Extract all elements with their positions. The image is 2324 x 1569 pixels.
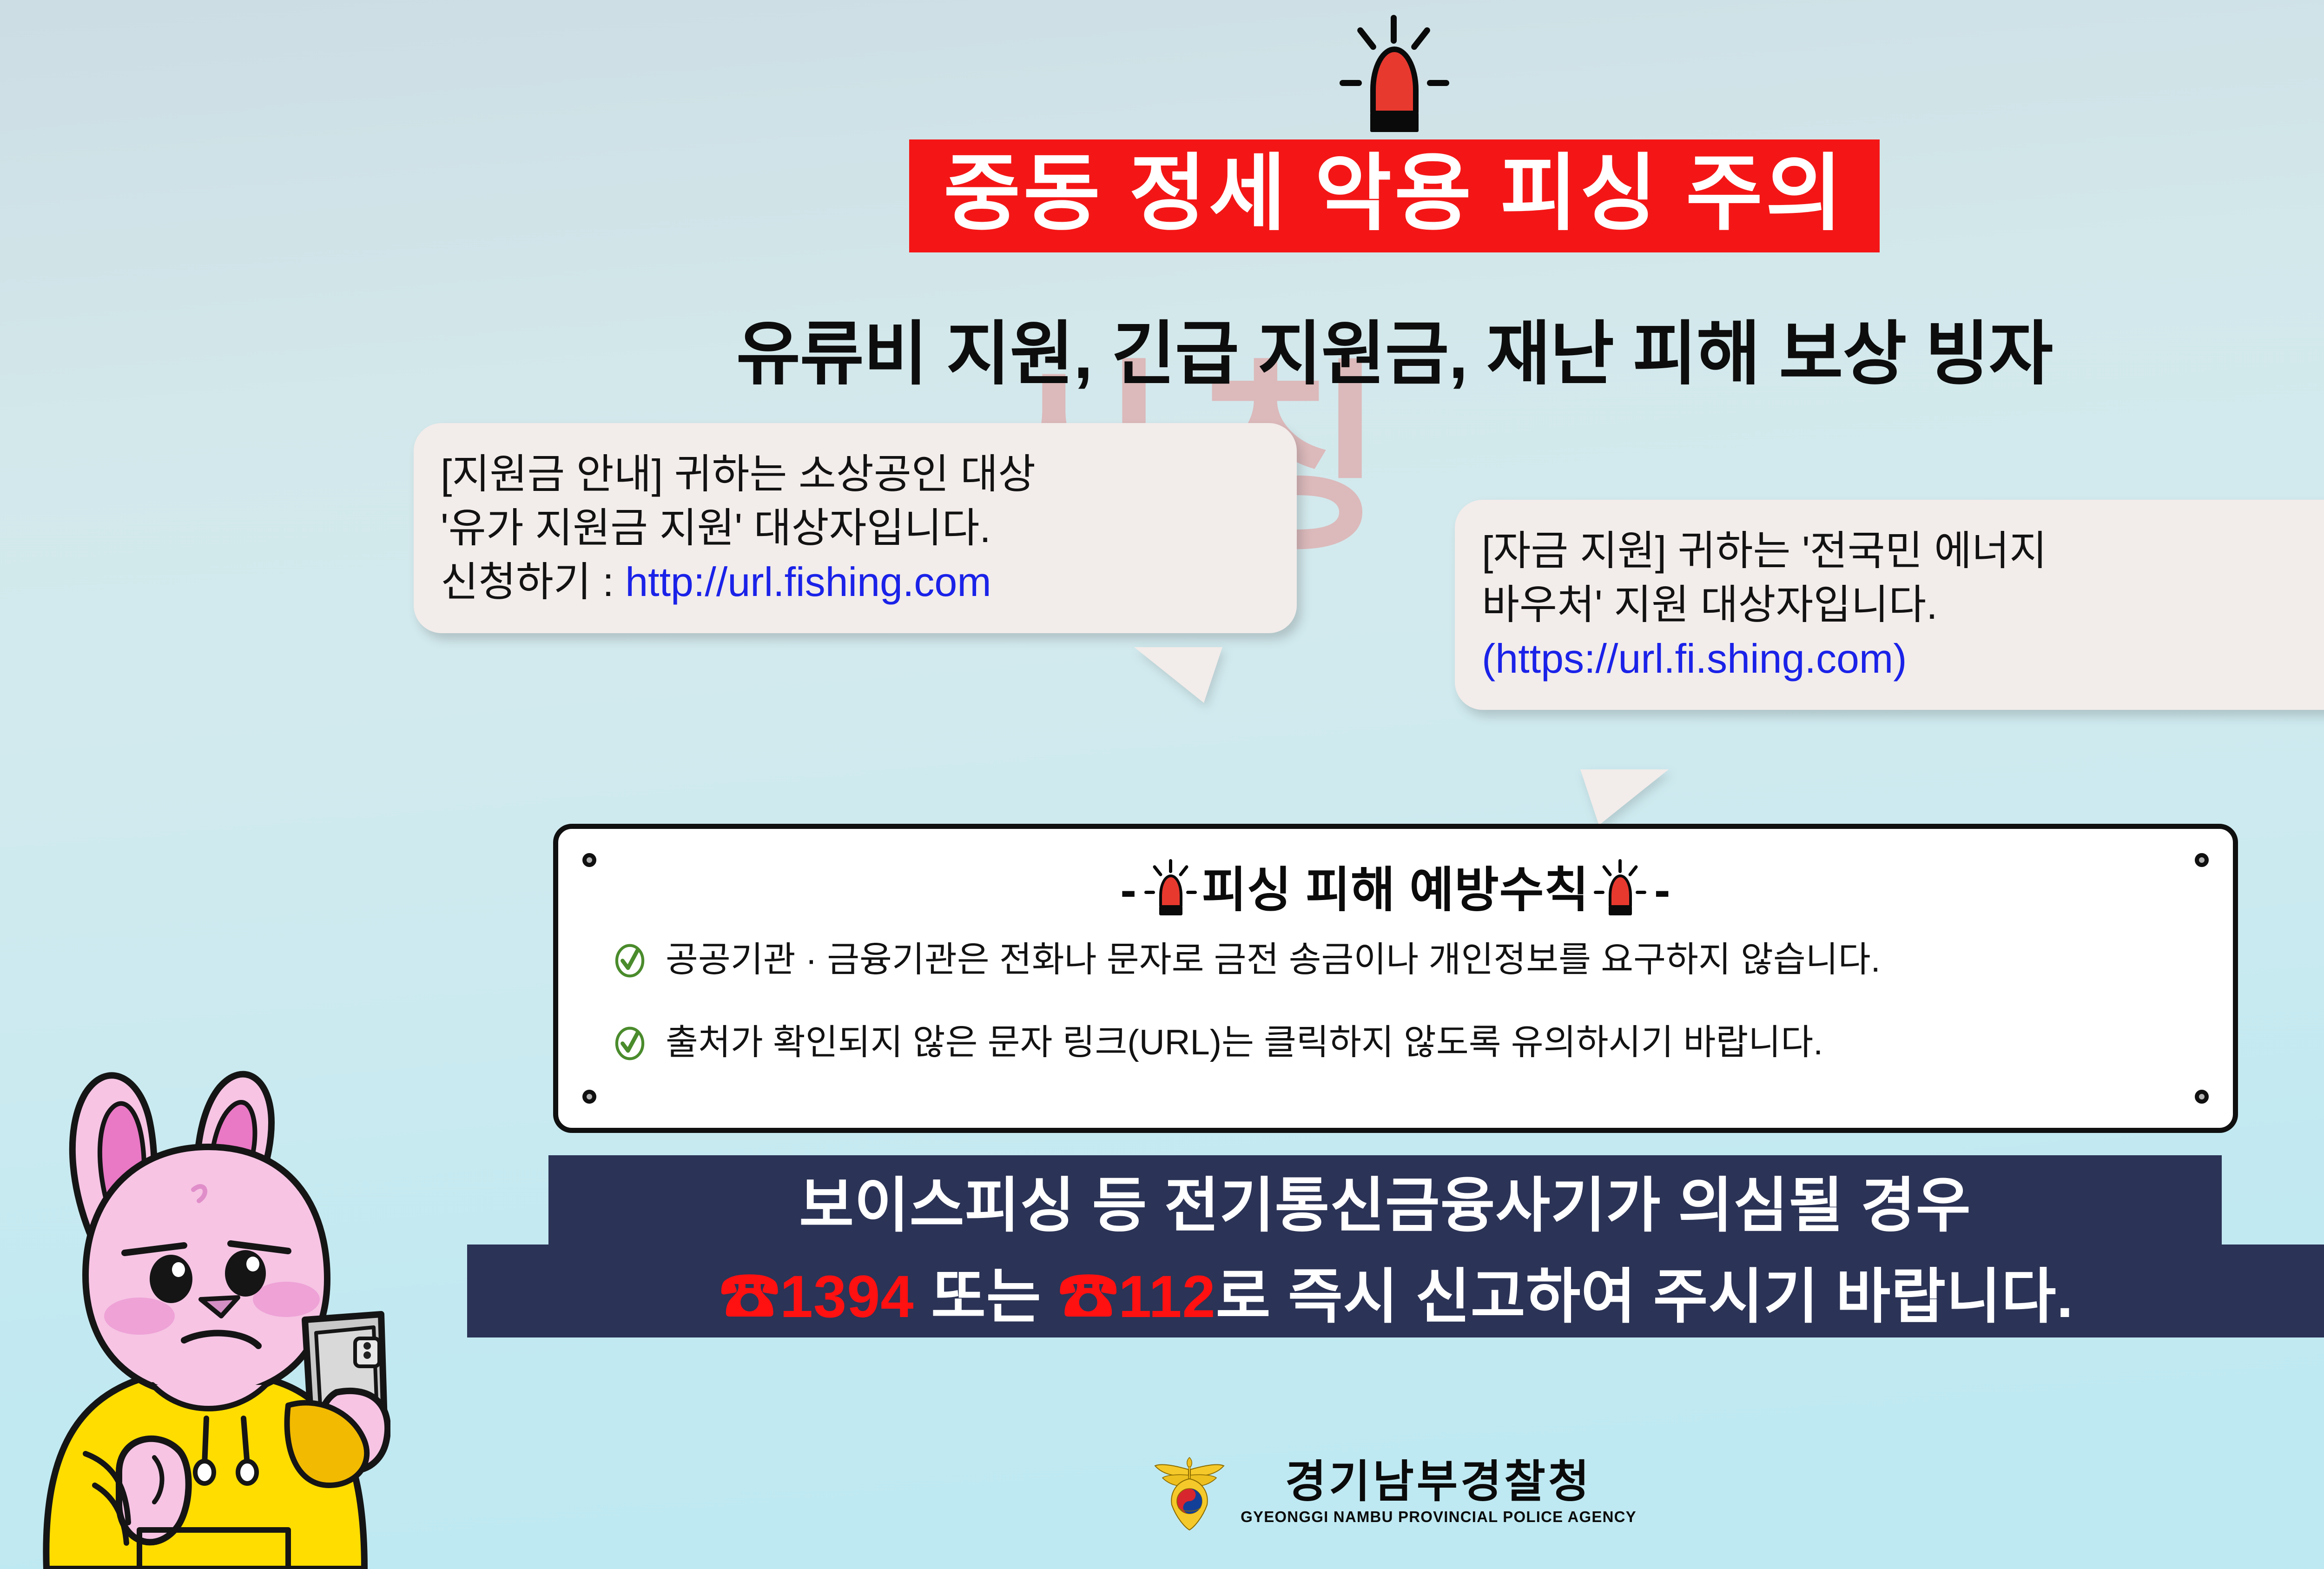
panel-rivet-bottom-right [2195, 1090, 2209, 1104]
bubble-left-link-label: 신청하기 : [441, 559, 625, 605]
phishing-sms-bubble-left: [지원금 안내] 귀하는 소상공인 대상 '유가 지원금 지원' 대상자입니다.… [414, 423, 1297, 633]
prevention-rules-panel: - 피싱 피해 예방수칙 - [553, 824, 2238, 1133]
siren-light-icon [1362, 42, 1427, 130]
report-banner-line1-text: 보이스피싱 등 전기통신금융사기가 의심될 경우 [799, 1157, 1971, 1243]
phone-icon: ☎ [720, 1264, 780, 1330]
title-block: 중동 정세 악용 피싱 주의 [0, 139, 2324, 252]
bubble-left-line1: [지원금 안내] 귀하는 소상공인 대상 [441, 447, 1270, 501]
bubble-right-line1: [자금 지원] 귀하는 '전국민 에너지 [1482, 524, 2324, 578]
banner-conjunction: 또는 [914, 1264, 1059, 1330]
panel-title-text: 피싱 피해 예방수칙 [1202, 863, 1589, 917]
phishing-warning-poster: 사칭 중동 정세 악용 피싱 주의 유류비 지원, 긴급 지원금, 재난 피해 … [0, 0, 2324, 1569]
bubble-tail-left [1134, 647, 1222, 703]
report-banner-line2-tail: 로 즉시 신고하여 주시기 바랍니다. [1216, 1264, 2073, 1330]
page-title: 중동 정세 악용 피싱 주의 [909, 139, 1880, 252]
prevention-rule-text: 출처가 확인되지 않은 문자 링크(URL)는 클릭하지 않도록 유의하시기 바… [666, 1023, 1823, 1062]
police-eagle-emblem-icon [1152, 1453, 1227, 1532]
panel-title-row: - 피싱 피해 예방수칙 - [558, 850, 2233, 920]
prevention-rule-item: 출처가 확인되지 않은 문자 링크(URL)는 클릭하지 않도록 유의하시기 바… [612, 1023, 2191, 1062]
page-subtitle: 유류비 지원, 긴급 지원금, 재난 피해 보상 빙자 [0, 298, 2324, 398]
prevention-rule-item: 공공기관 · 금융기관은 전화나 문자로 금전 송금이나 개인정보를 요구하지 … [612, 940, 2191, 980]
rabbit-with-phone-character [9, 1020, 390, 1569]
report-banner-line2: ☎1394 또는 ☎112로 즉시 신고하여 주시기 바랍니다. [467, 1245, 2324, 1337]
bubble-right-line2: 바우처' 지원 대상자입니다. [1482, 578, 2324, 632]
report-banner-line1: 보이스피싱 등 전기통신금융사기가 의심될 경우 [548, 1155, 2222, 1245]
phishing-sms-bubble-right: [자금 지원] 귀하는 '전국민 에너지 바우처' 지원 대상자입니다. (ht… [1455, 500, 2324, 710]
agency-name-kr: 경기남부경찰청 [1285, 1459, 1592, 1505]
panel-dash-left: - [1117, 863, 1140, 918]
agency-name-block: 경기남부경찰청 GYEONGGI NAMBU PROVINCIAL POLICE… [1241, 1459, 1637, 1526]
bubble-left-url[interactable]: http://url.fishing.com [625, 559, 991, 605]
bubble-left-line2: '유가 지원금 지원' 대상자입니다. [441, 501, 1270, 555]
prevention-rule-text: 공공기관 · 금융기관은 전화나 문자로 금전 송금이나 개인정보를 요구하지 … [666, 940, 1881, 980]
phone-number-112: 112 [1118, 1264, 1216, 1330]
siren-light-icon [1155, 872, 1186, 915]
panel-dash-right: - [1651, 863, 1674, 918]
phone-icon: ☎ [1058, 1264, 1118, 1330]
bubble-right-url[interactable]: (https://url.fi.shing.com) [1482, 632, 2324, 686]
green-check-circle-icon [612, 1025, 648, 1061]
green-check-circle-icon [612, 942, 648, 978]
agency-name-en: GYEONGGI NAMBU PROVINCIAL POLICE AGENCY [1241, 1508, 1637, 1526]
bubble-left-line3: 신청하기 : http://url.fishing.com [441, 555, 1270, 609]
phone-number-1394: 1394 [780, 1264, 914, 1330]
bubble-tail-right [1580, 769, 1669, 825]
panel-rivet-bottom-left [582, 1090, 596, 1104]
siren-light-icon [1605, 872, 1636, 915]
